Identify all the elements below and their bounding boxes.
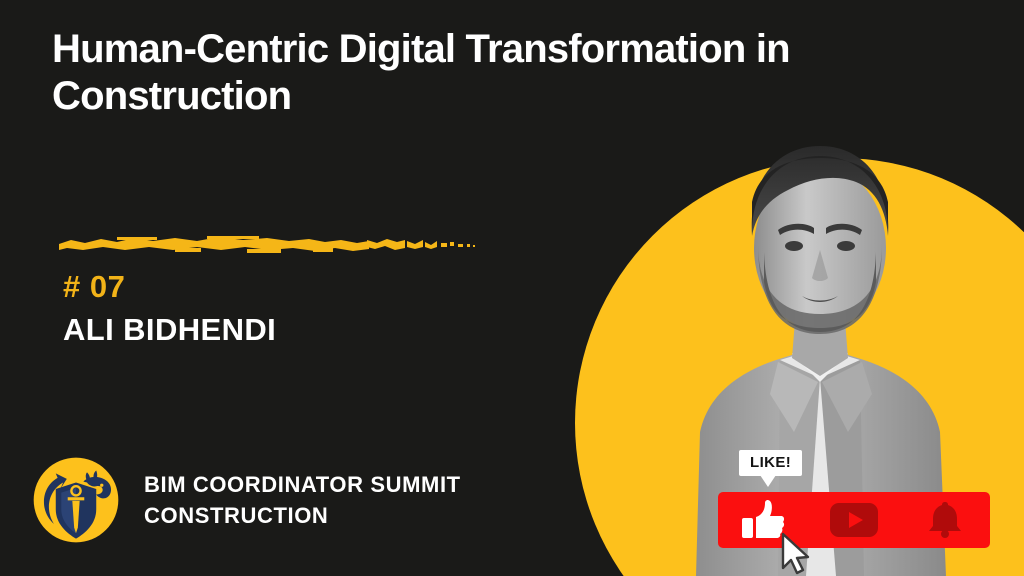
brand-line-1: BIM COORDINATOR SUMMIT [144,469,461,500]
like-speech-bubble: LIKE! [739,450,802,476]
mouse-cursor-icon [780,532,814,576]
speaker-name: ALI BIDHENDI [63,312,276,348]
brand-footer: BIM COORDINATOR SUMMIT CONSTRUCTION [30,454,461,546]
brush-stroke-accent [57,228,477,258]
engagement-bar [718,492,990,548]
presentation-slide: Human-Centric Digital Transformation in … [0,0,1024,576]
subscribe-button[interactable] [809,492,900,548]
brand-name: BIM COORDINATOR SUMMIT CONSTRUCTION [144,469,461,531]
brand-line-2: CONSTRUCTION [144,500,461,531]
episode-number: # 07 [63,269,125,305]
youtube-play-icon [830,503,878,537]
bell-icon [927,500,963,540]
page-title: Human-Centric Digital Transformation in … [52,26,952,120]
notifications-button[interactable] [899,492,990,548]
shield-dragon-sword-logo-icon [30,454,122,546]
